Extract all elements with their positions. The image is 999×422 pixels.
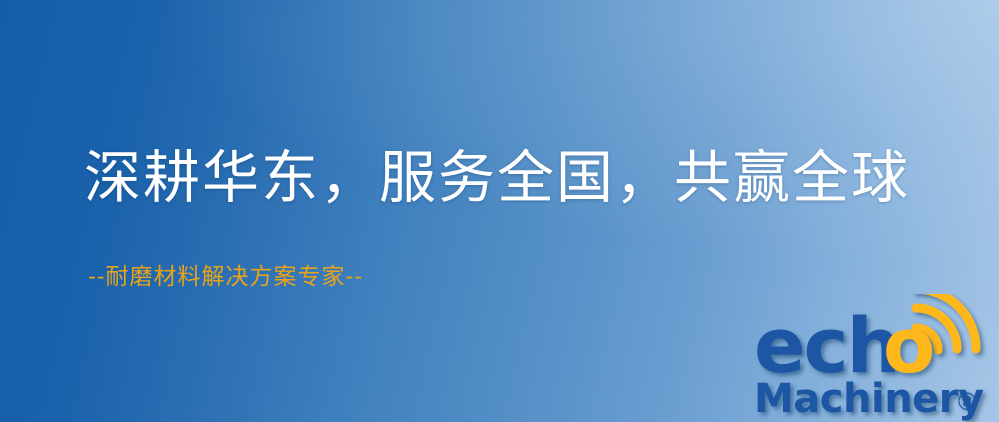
echo-machinery-logo-graphic: ech o Machinery ® [746, 294, 999, 422]
banner-subtitle: --耐磨材料解决方案专家-- [88, 266, 363, 289]
banner-headline: 深耕华东，服务全国，共赢全球 [84, 150, 910, 207]
company-logo[interactable]: ech o Machinery ® [746, 294, 999, 422]
hero-banner: 深耕华东，服务全国，共赢全球 --耐磨材料解决方案专家-- ech o [0, 0, 999, 422]
logo-wordmark-secondary: Machinery [754, 376, 984, 422]
logo-trademark-symbol: ® [955, 388, 979, 416]
